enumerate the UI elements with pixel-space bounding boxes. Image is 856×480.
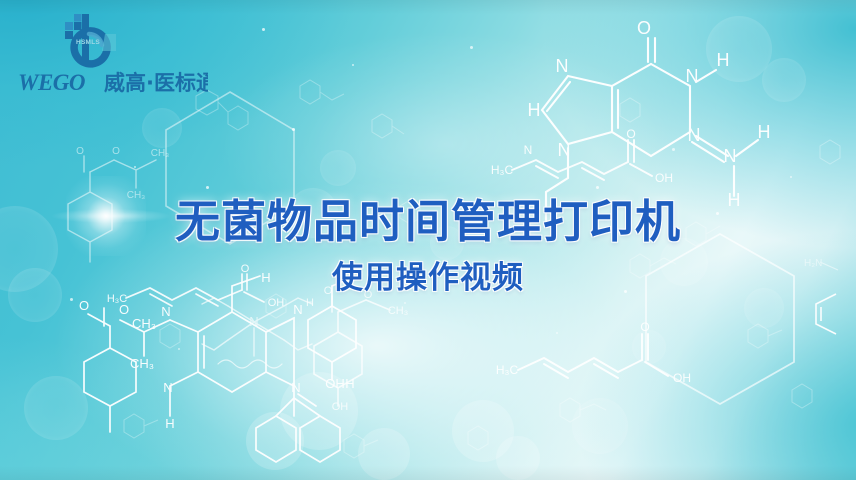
molecule-polyene-acid-mid-left: H₃C O OH <box>112 272 312 338</box>
sparkle-dot <box>596 186 599 189</box>
sparkle-dot <box>206 186 209 189</box>
atom-label-n: N <box>524 143 533 157</box>
atom-label-o1: O <box>76 146 84 157</box>
wordmark-cn: 威高·医标通 <box>104 71 208 95</box>
atom-label-o-carbonyl: O <box>324 285 333 297</box>
sparkle-dot <box>70 298 73 301</box>
atom-label-o-ester: O <box>119 302 129 317</box>
atom-label-oh: OH <box>332 401 349 413</box>
bokeh-circle <box>8 268 62 322</box>
molecule-benzoate-ester-center: H O O CH₃ OH <box>282 290 422 410</box>
sparkle-dot <box>470 46 473 49</box>
atom-label-ch3-a: CH₃ <box>151 148 170 159</box>
atom-label-N3: N <box>688 125 701 145</box>
logo-inner-text: HSMLS <box>76 39 100 46</box>
bokeh-circle <box>142 108 182 148</box>
wego-logo-mark-icon: HSMLS <box>60 14 116 68</box>
atom-label-H8: H <box>528 100 541 120</box>
atom-label-h3c: H₃C <box>496 363 519 377</box>
atom-label-h-top: H <box>261 270 270 285</box>
bokeh-circle <box>358 428 410 480</box>
bokeh-circle <box>0 206 58 292</box>
molecule-large-hexagon-lower-right <box>640 230 800 410</box>
bokeh-circle <box>706 16 772 82</box>
atom-label-H2a: H <box>758 122 771 142</box>
atom-label-N9: N <box>558 140 571 160</box>
atom-label-o: O <box>640 320 649 334</box>
atom-label-n-right-top: N <box>293 302 302 317</box>
bokeh-circle <box>744 288 784 328</box>
bokeh-circle <box>572 398 628 454</box>
sparkle-dot <box>404 302 406 304</box>
atom-label-h: H <box>306 297 314 309</box>
bokeh-circle <box>246 412 304 470</box>
bokeh-circle <box>288 188 338 238</box>
bokeh-circle <box>452 400 514 462</box>
atom-label-ch3-b: CH₃ <box>130 356 154 371</box>
atom-label-N2: N <box>724 146 737 166</box>
atom-label-o: O <box>241 263 250 275</box>
atom-label-n-left-bottom: N <box>163 380 172 395</box>
molecule-polyene-acid-bottom-right: H₃C O OH <box>500 320 700 410</box>
sparkle-dot <box>178 348 180 350</box>
atom-label-n-left-top: N <box>161 304 170 319</box>
title-block: 无菌物品时间管理打印机 使用操作视频 <box>0 198 856 295</box>
molecule-guanine-top-right: O N H N H N N N H H <box>520 10 856 300</box>
atom-label-h-right: H <box>345 376 354 391</box>
bokeh-circle <box>320 150 356 186</box>
sparkle-dot <box>292 128 295 131</box>
atom-label-n-quaternary: N <box>249 314 258 329</box>
sparkle-dot <box>262 28 265 31</box>
atom-label-ch3-a: CH₃ <box>132 316 156 331</box>
sparkle-dot <box>134 166 136 168</box>
sparkle-dot <box>672 148 675 151</box>
sub-title: 使用操作视频 <box>0 261 856 295</box>
bokeh-circle <box>430 226 464 260</box>
atom-label-oh: OH <box>655 171 673 185</box>
atom-label-n-right-bottom: N <box>291 380 300 395</box>
atom-label-H2b: H <box>728 190 741 210</box>
atom-label-oh: OH <box>673 371 691 385</box>
molecule-pteridine-complex-bottom-left: N N H N N H O OH CH₃ CH₃ O H <box>80 276 390 476</box>
lens-flare-core <box>66 176 146 256</box>
molecule-amine-label-right: H₂N <box>790 250 846 280</box>
atom-label-N7: N <box>556 56 569 76</box>
atom-label-N1: N <box>686 66 699 86</box>
sparkle-dot <box>624 290 627 293</box>
bokeh-circle <box>632 330 666 364</box>
sparkle-dot <box>352 64 354 66</box>
sparkle-dot <box>716 212 719 215</box>
atom-label-H1: H <box>717 50 730 70</box>
atom-label-o-acyl: O <box>79 298 89 313</box>
wordmark-latin: WEGO <box>18 70 85 95</box>
bokeh-circle <box>24 376 88 440</box>
atom-label-h3c: H₃C <box>491 163 514 177</box>
atom-label-o: O <box>626 127 635 141</box>
molecule-polyene-acid-top-right: H₃C N O OH <box>494 132 714 222</box>
atom-label-o-ester: O <box>364 289 373 301</box>
atom-label-o2: O <box>112 146 120 157</box>
brand-logo[interactable]: HSMLS WEGO 威高·医标通 <box>18 14 208 96</box>
molecule-large-hexagon-upper-left <box>160 88 300 248</box>
molecule-small-ring-right-edge <box>806 288 846 340</box>
bokeh-circle <box>280 372 358 450</box>
atom-label-h-left: H <box>165 416 174 431</box>
video-title-slide: O N H N H N N N H H H₃C N O OH <box>0 0 856 480</box>
atom-label-h2n: H₂N <box>804 258 822 269</box>
main-title: 无菌物品时间管理打印机 <box>0 198 856 247</box>
bokeh-circle <box>496 436 540 480</box>
molecule-quaternary-amine-center: N <box>198 292 328 392</box>
sparkle-dot <box>790 176 792 178</box>
molecule-benzoate-ester-mid-left: O O CH₃ CH₃ <box>52 140 172 270</box>
atom-label-oh: OH <box>268 297 285 309</box>
atom-label-ch3: CH₃ <box>388 305 408 317</box>
bokeh-circle <box>762 58 806 102</box>
atom-label-O: O <box>637 18 651 38</box>
bokeh-circle <box>660 238 708 286</box>
atom-label-ch3-b: CH₃ <box>127 190 146 201</box>
atom-label-oh-phenol: OH <box>325 376 345 391</box>
brand-wordmark: WEGO 威高·医标通 <box>18 68 208 96</box>
atom-label-h3c: H₃C <box>107 293 127 305</box>
lens-flare-streak <box>36 207 186 225</box>
sparkle-dot <box>556 332 558 334</box>
